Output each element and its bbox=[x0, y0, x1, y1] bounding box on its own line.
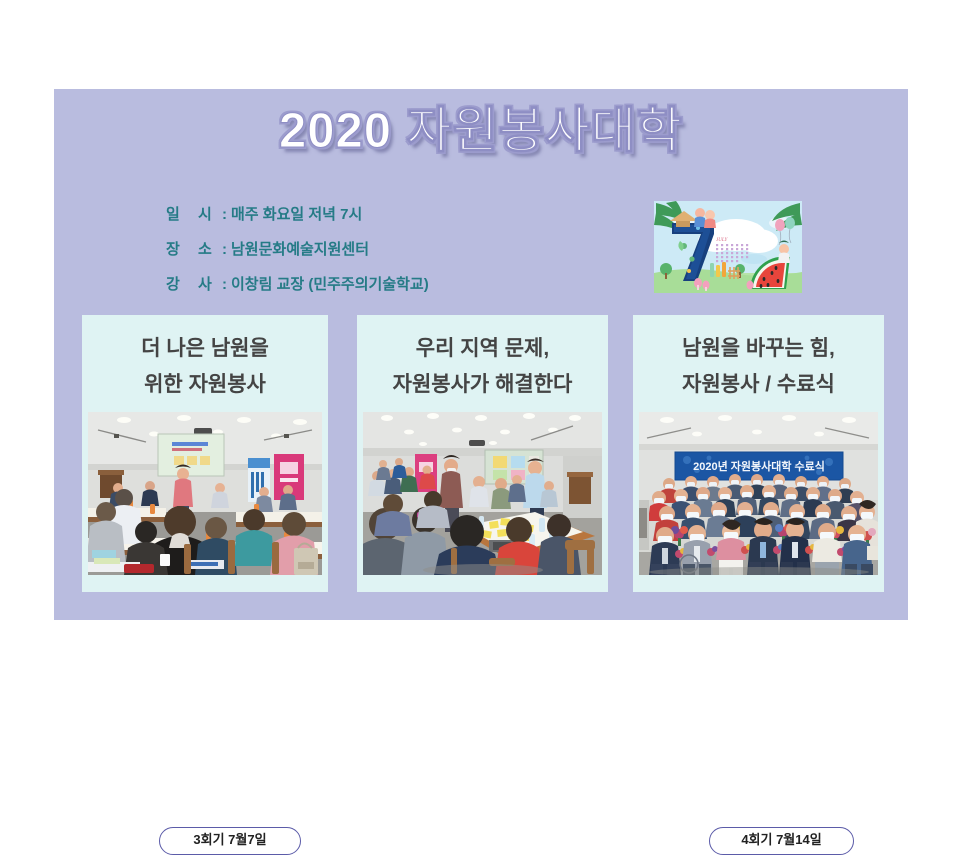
info-row-datetime: 일 시:매주 화요일 저녁 7시 bbox=[166, 207, 586, 222]
info-row-place: 장 소:남원문화예술지원센터 bbox=[166, 242, 586, 257]
session-caption-1: 3회기 7월7일 bbox=[159, 827, 301, 855]
session-heading-3-line-1: 남원을 바꾸는 힘, bbox=[633, 331, 884, 367]
graduation-banner-text: 2020년 자원봉사대학 수료식 bbox=[693, 459, 825, 473]
page-title: 2020 자원봉사대학 bbox=[54, 107, 908, 156]
info-value-lecturer: 이창림 교장 (민주주의기술학교) bbox=[231, 276, 429, 293]
session-column-1: 더 나은 남원을 위한 자원봉사 bbox=[82, 315, 328, 592]
info-row-lecturer: 강 사:이창림 교장 (민주주의기술학교) bbox=[166, 277, 586, 292]
session-heading-3-line-2: 자원봉사 / 수료식 bbox=[633, 367, 884, 403]
workshop-photo bbox=[363, 412, 602, 575]
lecture-hall-photo bbox=[88, 412, 322, 575]
session-heading-3: 남원을 바꾸는 힘, 자원봉사 / 수료식 bbox=[633, 331, 884, 403]
session-heading-2-line-2: 자원봉사가 해결한다 bbox=[357, 367, 608, 403]
info-value-place: 남원문화예술지원센터 bbox=[231, 241, 369, 258]
session-heading-1: 더 나은 남원을 위한 자원봉사 bbox=[82, 331, 328, 403]
info-label-lecturer: 강 사 bbox=[166, 277, 222, 292]
july-calendar-illustration-icon: JULY bbox=[654, 201, 802, 293]
session-heading-2-line-1: 우리 지역 문제, bbox=[357, 331, 608, 367]
session-heading-1-line-1: 더 나은 남원을 bbox=[82, 331, 328, 367]
graduation-group-photo: 2020년 자원봉사대학 수료식 bbox=[639, 412, 878, 575]
session-heading-2: 우리 지역 문제, 자원봉사가 해결한다 bbox=[357, 331, 608, 403]
info-separator-lecturer: : bbox=[222, 276, 231, 293]
session-column-2: 우리 지역 문제, 자원봉사가 해결한다 bbox=[357, 315, 608, 592]
info-separator-place: : bbox=[222, 241, 231, 258]
info-label-datetime: 일 시 bbox=[166, 207, 222, 222]
event-info-block: 일 시:매주 화요일 저녁 7시 장 소:남원문화예술지원센터 강 사:이창림 … bbox=[166, 207, 586, 312]
poster-slide: 2020 자원봉사대학 일 시:매주 화요일 저녁 7시 장 소:남원문화예술지… bbox=[54, 89, 908, 620]
info-value-datetime: 매주 화요일 저녁 7시 bbox=[231, 206, 362, 223]
info-separator-datetime: : bbox=[222, 206, 231, 223]
session-caption-2: 4회기 7월14일 bbox=[709, 827, 854, 855]
session-heading-1-line-2: 위한 자원봉사 bbox=[82, 367, 328, 403]
session-column-3: 남원을 바꾸는 힘, 자원봉사 / 수료식 bbox=[633, 315, 884, 592]
info-label-place: 장 소 bbox=[166, 242, 222, 257]
svg-text:JULY: JULY bbox=[716, 238, 729, 243]
